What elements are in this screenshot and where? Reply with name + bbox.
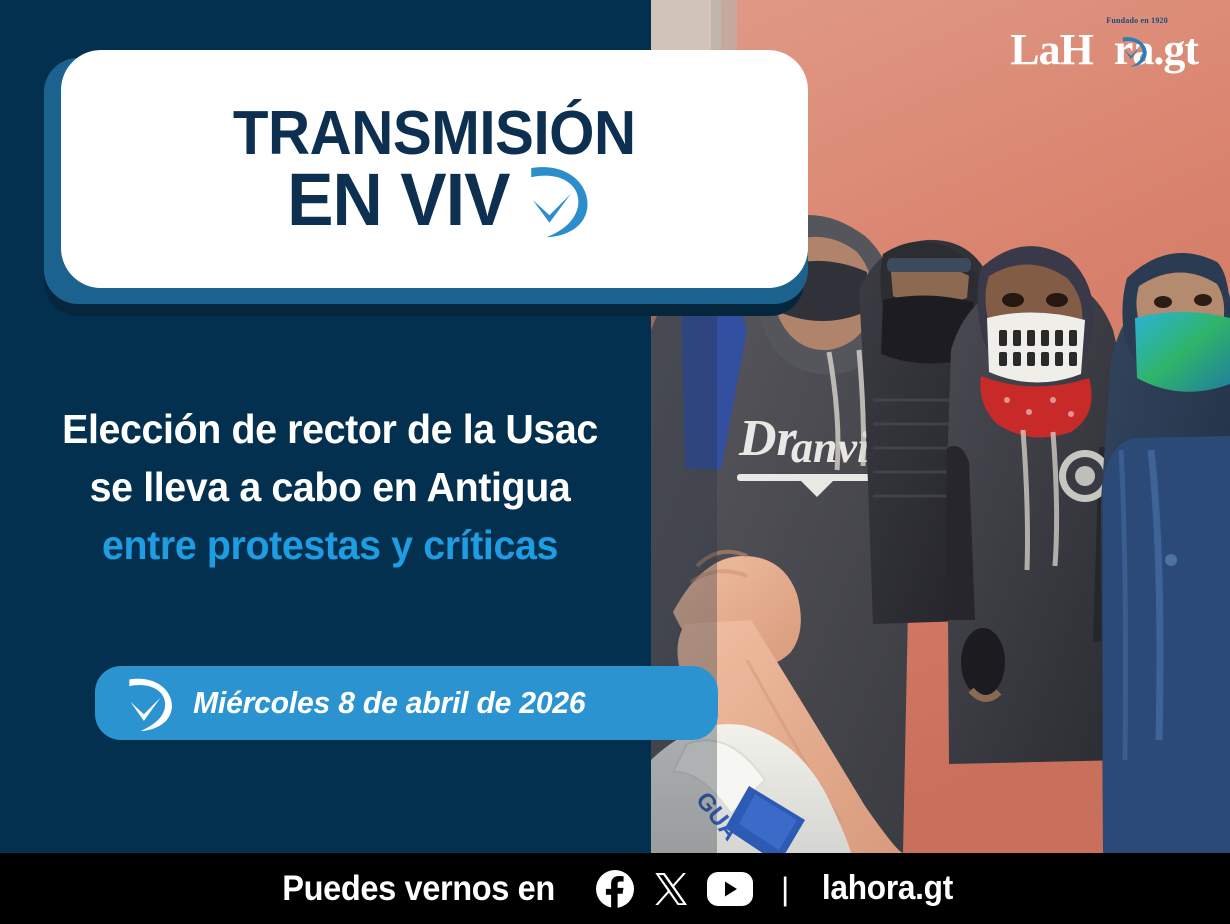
lahora-swoosh-icon [513,162,589,238]
live-title-line2: EN VIV [287,164,509,237]
social-card-graphic: Dr anville [0,0,1230,924]
brand-name-head: LaH [1010,25,1093,74]
date-text: Miércoles 8 de abril de 2026 [193,685,585,721]
footer-url[interactable]: lahora.gt [822,869,953,908]
headline-line-1: Elección de rector de la Usac [13,400,647,458]
social-links [595,869,753,909]
x-twitter-icon[interactable] [653,871,689,907]
lahora-swoosh-icon [117,675,173,731]
headline-line-2: se lleva a cabo en Antigua [13,458,647,516]
card-surface: TRANSMISIÓN EN VIV [61,50,808,288]
brand-wordmark: LaHora.gt Fundado en 1920 [1010,28,1198,72]
youtube-icon[interactable] [707,872,753,906]
svg-text:Dr: Dr [738,410,798,467]
lahora-brand-logo[interactable]: LaHora.gt Fundado en 1920 [1010,24,1198,72]
headline: Elección de rector de la Usac se lleva a… [0,400,660,575]
lahora-swoosh-icon [1114,32,1148,66]
footer-label: Puedes vernos en [282,869,555,909]
facebook-icon[interactable] [595,869,635,909]
footer-separator: | [781,873,789,905]
live-title-line1: TRANSMISIÓN [233,104,636,165]
headline-line-3: entre protestas y críticas [13,516,647,574]
footer-bar: Puedes vernos en | lahora.gt [0,853,1230,924]
brand-founded-text: Fundado en 1920 [1106,17,1168,25]
date-pill: Miércoles 8 de abril de 2026 [95,666,718,740]
